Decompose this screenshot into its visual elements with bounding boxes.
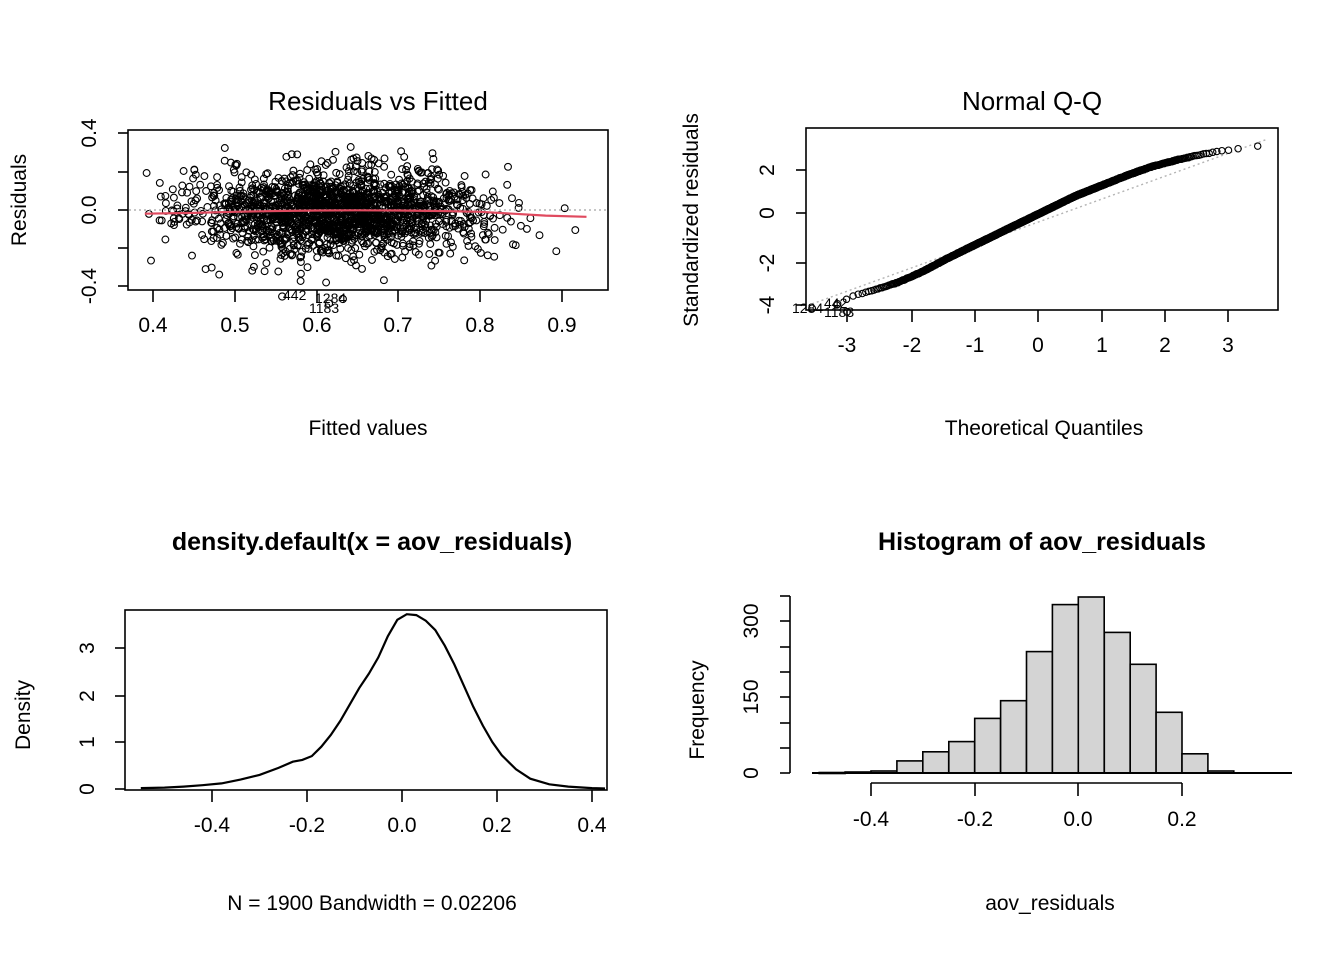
histogram-svg: Histogram of aov_residuals Frequency aov… [672, 480, 1344, 960]
y-axis-ticks: 0.4 0.0 -0.4 [78, 118, 128, 304]
x-axis-ticks: -3 -2 -1 0 1 2 3 [838, 310, 1234, 357]
y-tick-label: -2 [756, 254, 779, 273]
x-tick-label: 1 [1096, 334, 1108, 357]
panel-title: Residuals vs Fitted [268, 86, 488, 116]
outlier-label-1284: 1284 [792, 300, 823, 316]
x-tick-label: 0.2 [482, 814, 511, 837]
y-tick-label: 3 [76, 642, 99, 654]
scatter-points [143, 144, 578, 308]
y-tick-label: 0 [740, 767, 763, 779]
y-tick-label: 150 [740, 679, 763, 714]
y-tick-label: 0.4 [78, 118, 101, 148]
panel-residuals-vs-fitted: Residuals vs Fitted Residuals Fitted val… [0, 0, 672, 480]
x-tick-label: -3 [838, 334, 857, 357]
residuals-vs-fitted-svg: Residuals vs Fitted Residuals Fitted val… [0, 0, 672, 480]
x-tick-label: -0.4 [194, 814, 231, 837]
y-axis-label: Density [12, 679, 35, 750]
x-axis-label: N = 1900 Bandwidth = 0.02206 [227, 892, 517, 915]
x-axis: -0.4 -0.2 0.0 0.2 [853, 783, 1197, 831]
y-tick-label: 300 [740, 603, 763, 638]
x-tick-label: 0.0 [1063, 808, 1092, 831]
panel-normal-qq: Normal Q-Q Standardized residuals Theore… [672, 0, 1344, 480]
y-axis: 300 150 0 [740, 596, 790, 779]
histogram-bars [819, 597, 1234, 774]
x-tick-label: 0.0 [387, 814, 416, 837]
x-tick-label: 0 [1032, 334, 1044, 357]
outlier-label-1183: 1183 [824, 304, 854, 320]
x-tick-label: 0.4 [138, 314, 168, 337]
x-tick-label: 0.8 [465, 314, 494, 337]
panel-histogram: Histogram of aov_residuals Frequency aov… [672, 480, 1344, 960]
x-axis-label: Fitted values [308, 417, 427, 440]
x-tick-label: -0.2 [289, 814, 325, 837]
outlier-label-442: 442 [283, 287, 307, 303]
y-tick-label: -4 [756, 295, 779, 314]
x-axis-ticks: 0.4 0.5 0.6 0.7 0.8 0.9 [138, 290, 576, 337]
panel-title: density.default(x = aov_residuals) [172, 528, 572, 556]
x-tick-label: 0.2 [1167, 808, 1196, 831]
x-tick-label: 3 [1222, 334, 1234, 357]
y-tick-label: -0.4 [78, 268, 101, 305]
x-tick-label: 0.6 [302, 314, 331, 337]
x-tick-label: 0.7 [383, 314, 412, 337]
x-tick-label: -0.2 [957, 808, 993, 831]
x-tick-label: 2 [1159, 334, 1171, 357]
y-axis-label: Standardized residuals [680, 113, 703, 327]
density-curve [141, 614, 605, 788]
x-axis-label: Theoretical Quantiles [945, 417, 1143, 440]
outlier-label-1183: 1183 [309, 300, 339, 316]
x-axis-ticks: -0.4 -0.2 0.0 0.2 0.4 [194, 790, 607, 837]
x-tick-label: -2 [903, 334, 922, 357]
y-tick-label: 2 [76, 690, 99, 702]
y-tick-label: 0.0 [78, 195, 101, 224]
x-tick-label: 0.5 [220, 314, 249, 337]
y-axis-ticks: 2 0 -2 -4 [756, 164, 806, 314]
y-tick-label: 2 [756, 164, 779, 176]
y-axis-ticks: 3 2 1 0 [76, 642, 125, 795]
panel-title: Normal Q-Q [962, 86, 1102, 116]
y-tick-label: 0 [756, 207, 779, 219]
qq-reference-line [812, 140, 1266, 304]
panel-density: density.default(x = aov_residuals) Densi… [0, 480, 672, 960]
x-tick-label: 0.4 [577, 814, 607, 837]
qq-points [809, 143, 1261, 315]
panel-title: Histogram of aov_residuals [878, 528, 1206, 556]
figure-canvas: Residuals vs Fitted Residuals Fitted val… [0, 0, 1344, 960]
x-tick-label: 0.9 [547, 314, 576, 337]
x-tick-label: -0.4 [853, 808, 890, 831]
y-tick-label: 1 [76, 736, 99, 748]
y-axis-label: Residuals [8, 154, 31, 246]
y-axis-label: Frequency [686, 660, 709, 760]
y-tick-label: 0 [76, 783, 99, 795]
plot-box [125, 610, 607, 790]
normal-qq-svg: Normal Q-Q Standardized residuals Theore… [672, 0, 1344, 480]
x-tick-label: -1 [966, 334, 985, 357]
density-svg: density.default(x = aov_residuals) Densi… [0, 480, 672, 960]
x-axis-label: aov_residuals [985, 892, 1115, 915]
